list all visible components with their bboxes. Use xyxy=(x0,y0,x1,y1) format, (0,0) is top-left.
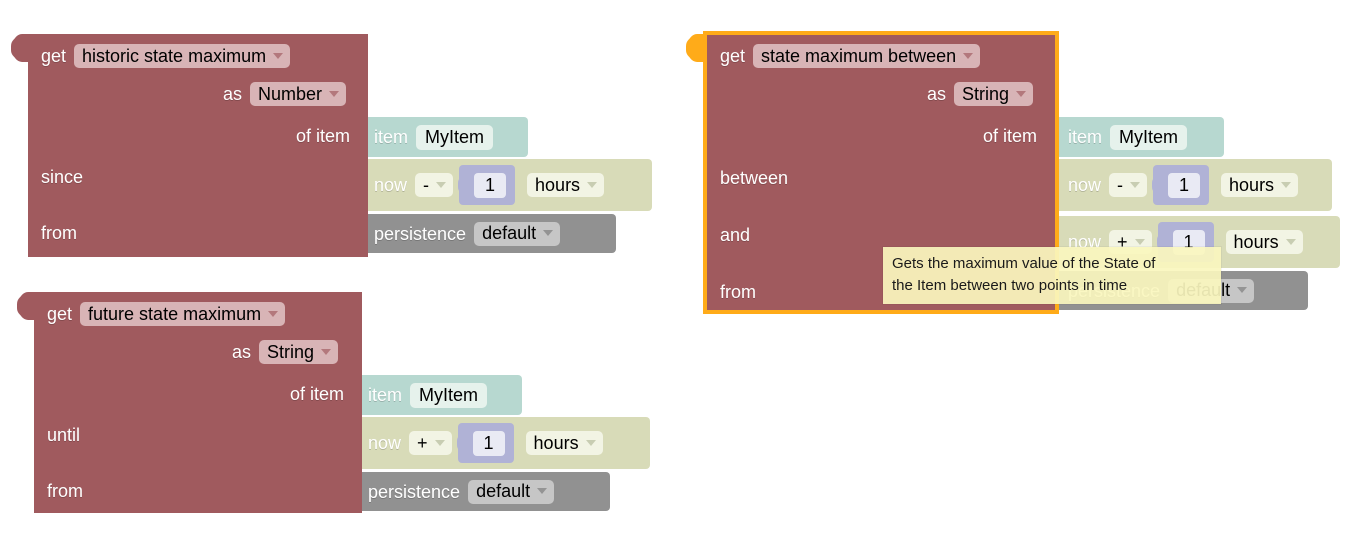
row-as: as String xyxy=(232,340,338,364)
chevron-down-icon xyxy=(1281,182,1291,188)
between-label: between xyxy=(720,168,788,188)
item-value-block[interactable]: item MyItem xyxy=(1046,117,1224,157)
as-label: as xyxy=(927,84,946,104)
block-output-plug-icon xyxy=(12,34,28,62)
persistence-value-block[interactable]: persistence default xyxy=(346,472,610,511)
unit-dropdown[interactable]: hours xyxy=(1221,173,1298,197)
block-output-plug-icon xyxy=(18,292,34,320)
item-block-label: item xyxy=(368,385,402,405)
until-label: until xyxy=(47,425,80,445)
chevron-down-icon xyxy=(537,488,547,494)
row-since: since xyxy=(41,167,83,187)
get-label: get xyxy=(41,46,66,66)
from-label: from xyxy=(47,481,83,501)
chevron-down-icon xyxy=(1130,182,1140,188)
row-and: and xyxy=(720,225,750,245)
of-item-label: of item xyxy=(983,126,1037,146)
row-get: get future state maximum xyxy=(47,302,285,326)
chevron-down-icon xyxy=(587,182,597,188)
row-from: from xyxy=(47,481,83,501)
block-body[interactable]: get future state maximum as String of it… xyxy=(34,292,362,513)
persistence-dropdown[interactable]: default xyxy=(468,480,554,504)
row-get: get historic state maximum xyxy=(41,44,290,68)
operator-dropdown[interactable]: + xyxy=(409,431,452,455)
number-value-block[interactable]: 1 xyxy=(1153,165,1209,205)
from-label: from xyxy=(720,282,756,302)
persistence-label: persistence xyxy=(368,482,460,502)
block-historic-state-maximum[interactable]: item MyItem now - 1 hours persistence de… xyxy=(0,0,680,270)
number-field[interactable]: 1 xyxy=(473,431,505,456)
block-output-plug-icon xyxy=(687,34,703,62)
block-notch-icon xyxy=(1152,175,1164,195)
and-label: and xyxy=(720,225,750,245)
time-value-block[interactable]: now + 1 hours xyxy=(346,417,650,469)
action-dropdown[interactable]: historic state maximum xyxy=(74,44,290,68)
row-from: from xyxy=(720,282,756,302)
of-item-label: of item xyxy=(290,384,344,404)
as-label: as xyxy=(232,342,251,362)
as-type-dropdown[interactable]: Number xyxy=(250,82,346,106)
item-value-block[interactable]: item MyItem xyxy=(352,117,528,157)
chevron-down-icon xyxy=(436,182,446,188)
block-notch-icon xyxy=(457,433,469,453)
block-body[interactable]: get historic state maximum as Number of … xyxy=(28,34,368,257)
item-value-block[interactable]: item MyItem xyxy=(346,375,522,415)
action-dropdown[interactable]: state maximum between xyxy=(753,44,980,68)
chevron-down-icon xyxy=(1016,91,1026,97)
item-name-field[interactable]: MyItem xyxy=(410,383,487,408)
chevron-down-icon xyxy=(586,440,596,446)
block-future-state-maximum[interactable]: item MyItem now + 1 hours persistence de… xyxy=(0,258,680,534)
as-type-dropdown[interactable]: String xyxy=(954,82,1033,106)
of-item-label: of item xyxy=(296,126,350,146)
persistence-value-block[interactable]: persistence default xyxy=(352,214,616,253)
row-from: from xyxy=(41,223,77,243)
as-label: as xyxy=(223,84,242,104)
chevron-down-icon xyxy=(1286,239,1296,245)
row-of-item: of item xyxy=(290,384,344,404)
number-value-block[interactable]: 1 xyxy=(458,423,514,463)
chevron-down-icon xyxy=(1237,287,1247,293)
operator-dropdown[interactable]: - xyxy=(415,173,453,197)
item-block-label: item xyxy=(374,127,408,147)
chevron-down-icon xyxy=(963,53,973,59)
row-of-item: of item xyxy=(983,126,1037,146)
now-label: now xyxy=(374,175,407,195)
block-state-maximum-between[interactable]: item MyItem now - 1 hours now + xyxy=(684,0,1372,330)
tooltip: Gets the maximum value of the State of t… xyxy=(883,247,1221,304)
number-value-block[interactable]: 1 xyxy=(459,165,515,205)
chevron-down-icon xyxy=(435,440,445,446)
chevron-down-icon xyxy=(273,53,283,59)
time-value-block[interactable]: now - 1 hours xyxy=(1046,159,1332,211)
row-as: as String xyxy=(927,82,1033,106)
unit-dropdown[interactable]: hours xyxy=(526,431,603,455)
now-label: now xyxy=(368,433,401,453)
item-block-label: item xyxy=(1068,127,1102,147)
unit-dropdown[interactable]: hours xyxy=(527,173,604,197)
item-name-field[interactable]: MyItem xyxy=(1110,125,1187,150)
row-get: get state maximum between xyxy=(720,44,980,68)
since-label: since xyxy=(41,167,83,187)
from-label: from xyxy=(41,223,77,243)
number-field[interactable]: 1 xyxy=(1168,173,1200,198)
unit-dropdown[interactable]: hours xyxy=(1226,230,1303,254)
item-name-field[interactable]: MyItem xyxy=(416,125,493,150)
chevron-down-icon xyxy=(268,311,278,317)
chevron-down-icon xyxy=(321,349,331,355)
action-dropdown[interactable]: future state maximum xyxy=(80,302,285,326)
chevron-down-icon xyxy=(543,230,553,236)
row-between: between xyxy=(720,168,788,188)
row-of-item: of item xyxy=(296,126,350,146)
number-field[interactable]: 1 xyxy=(474,173,506,198)
row-until: until xyxy=(47,425,80,445)
operator-dropdown[interactable]: - xyxy=(1109,173,1147,197)
now-label: now xyxy=(1068,175,1101,195)
persistence-dropdown[interactable]: default xyxy=(474,222,560,246)
time-value-block[interactable]: now - 1 hours xyxy=(352,159,652,211)
row-as: as Number xyxy=(223,82,346,106)
get-label: get xyxy=(720,46,745,66)
chevron-down-icon xyxy=(329,91,339,97)
block-notch-icon xyxy=(458,175,470,195)
persistence-label: persistence xyxy=(374,224,466,244)
as-type-dropdown[interactable]: String xyxy=(259,340,338,364)
chevron-down-icon xyxy=(1135,239,1145,245)
get-label: get xyxy=(47,304,72,324)
